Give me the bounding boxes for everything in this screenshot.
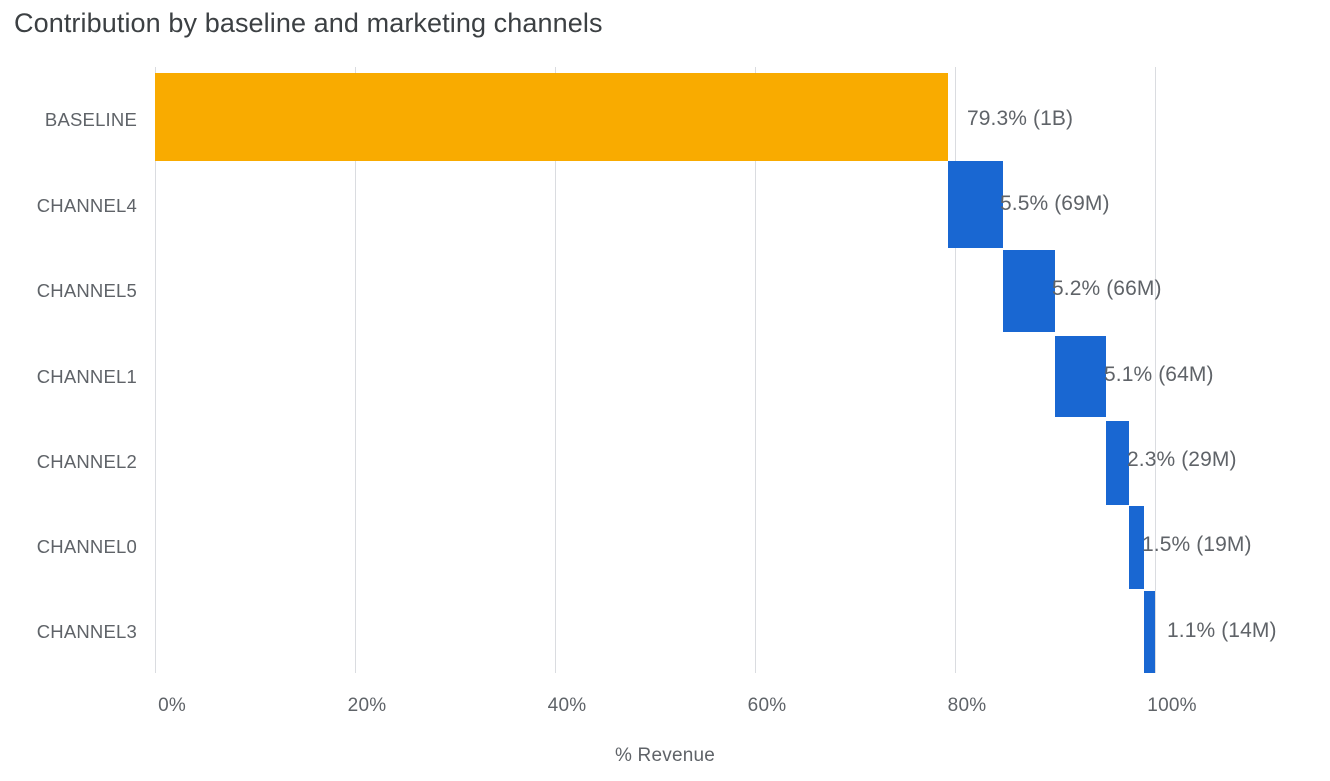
xtick-80: 80%	[948, 695, 987, 717]
bar-baseline[interactable]	[155, 73, 948, 161]
ylabel-channel5: CHANNEL5	[37, 280, 137, 302]
xtick-60: 60%	[748, 695, 787, 717]
value-label-channel5: 5.2% (66M)	[1052, 277, 1162, 301]
value-label-channel1: 5.1% (64M)	[1104, 363, 1214, 387]
xtick-0: 0%	[158, 695, 186, 717]
bar-channel2[interactable]	[1106, 421, 1129, 505]
chart-title: Contribution by baseline and marketing c…	[14, 8, 603, 39]
value-label-channel2: 2.3% (29M)	[1127, 448, 1237, 472]
value-label-baseline: 79.3% (1B)	[967, 107, 1073, 131]
bar-channel4[interactable]	[948, 161, 1003, 248]
gridline-80	[955, 67, 956, 673]
waterfall-chart: Contribution by baseline and marketing c…	[0, 0, 1330, 781]
ylabel-channel4: CHANNEL4	[37, 195, 137, 217]
value-label-channel3: 1.1% (14M)	[1167, 619, 1277, 643]
xtick-40: 40%	[548, 695, 587, 717]
ylabel-channel2: CHANNEL2	[37, 451, 137, 473]
bar-channel3[interactable]	[1144, 591, 1155, 673]
value-label-channel4: 5.5% (69M)	[1000, 192, 1110, 216]
bar-channel1[interactable]	[1055, 336, 1106, 417]
bar-channel5[interactable]	[1003, 250, 1055, 332]
value-label-channel0: 1.5% (19M)	[1142, 533, 1252, 557]
xtick-20: 20%	[348, 695, 387, 717]
ylabel-channel0: CHANNEL0	[37, 536, 137, 558]
ylabel-channel3: CHANNEL3	[37, 621, 137, 643]
xaxis-title: % Revenue	[0, 745, 1330, 767]
ylabel-baseline: BASELINE	[45, 109, 137, 131]
plot-area	[155, 67, 1155, 673]
ylabel-channel1: CHANNEL1	[37, 366, 137, 388]
xtick-100: 100%	[1147, 695, 1196, 717]
